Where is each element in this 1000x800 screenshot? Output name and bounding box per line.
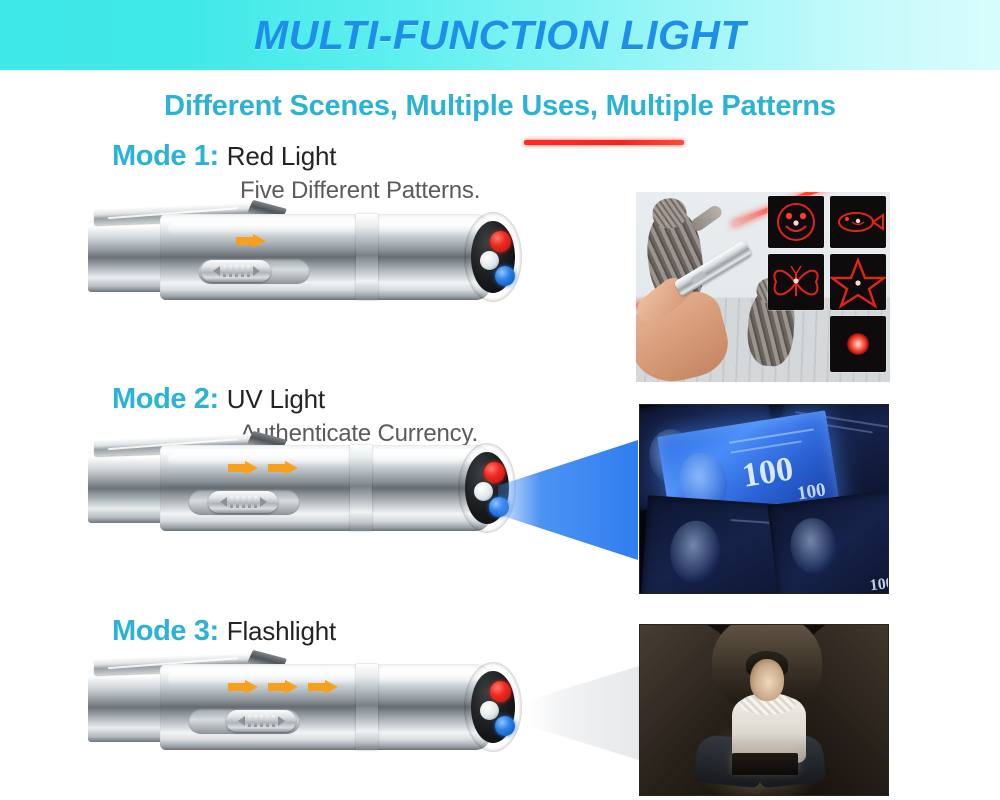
red-led [484,462,505,483]
pen-slider-knob[interactable] [208,491,278,513]
white-led [474,482,493,501]
page-title: MULTI-FUNCTION LIGHT [254,12,746,59]
pen-slider-knob[interactable] [201,260,271,282]
knob-left-arrow-icon [213,266,220,276]
arrow-right-icon [228,461,258,474]
pen-tip-mode-3 [464,662,522,752]
pen-tip-face [471,671,515,743]
mode-1-heading: Mode 1:Red Light Five Different Patterns… [112,142,480,205]
pattern-butterfly [768,254,824,310]
pen-chrome-ring [356,214,378,300]
pen-body-highlight [168,453,482,466]
header-banner: MULTI-FUNCTION LIGHT [0,0,1000,70]
pattern-star [830,254,886,310]
pen-slider-track[interactable] [188,708,300,734]
open-book [732,753,798,775]
arrow-right-icon [236,234,266,247]
mode-3-orange-arrows [228,680,338,693]
mode-2-name: UV Light [227,384,325,414]
arrow-right-icon [308,680,338,693]
pen-chrome-ring [350,445,372,531]
mode-1-orange-arrows [236,234,266,247]
arrow-right-icon [268,680,298,693]
laser-pattern-grid [768,196,886,376]
knob-right-arrow-icon [253,266,260,276]
mode-2-tag: Mode 2: [112,383,219,415]
dollar-bill: 100 [767,490,889,594]
mode-3-heading: Mode 3:Flashlight [112,617,336,646]
arrow-right-icon [268,461,298,474]
photo-uv-currency: 100 100 100 100 100 [639,404,889,594]
subtitle-row: Different Scenes, Multiple Uses, Multipl… [0,70,1000,142]
pen-slider-knob[interactable] [226,710,296,732]
knob-left-arrow-icon [238,716,245,726]
knob-left-arrow-icon [220,497,227,507]
pen-chrome-ring [356,664,378,750]
mode-3-tag: Mode 3: [112,615,219,647]
red-led [490,681,511,702]
white-led [480,251,499,270]
arrow-right-icon [228,680,258,693]
red-laser-beam [524,140,684,145]
mode-1-tag: Mode 1: [112,140,219,172]
photo-cats-red-laser [636,192,890,382]
blue-led [495,266,515,286]
pen-body-highlight [168,222,482,235]
white-led [480,701,499,720]
mode-1-subtitle: Five Different Patterns. [240,177,480,205]
pen-slider-track[interactable] [198,258,310,284]
knob-right-arrow-icon [278,716,285,726]
red-led [490,231,511,252]
pen-illustration-mode-3 [88,652,528,767]
knob-right-arrow-icon [260,497,267,507]
photo-child-reading [639,624,889,796]
mode-3-name: Flashlight [227,616,336,646]
pen-tip-face [471,221,515,293]
page-subtitle: Different Scenes, Multiple Uses, Multipl… [164,90,836,123]
child-head [750,659,784,701]
pattern-smiley-face [768,196,824,248]
pen-illustration-mode-2 [88,433,518,548]
pen-illustration-mode-1 [88,202,528,322]
mode-1-name: Red Light [227,141,337,171]
pen-tip-mode-1 [464,212,522,302]
blue-led [495,716,515,736]
pattern-dot [830,316,886,372]
mode-2-orange-arrows [228,461,298,474]
pen-slider-track[interactable] [188,489,300,515]
pattern-fish [830,196,886,248]
